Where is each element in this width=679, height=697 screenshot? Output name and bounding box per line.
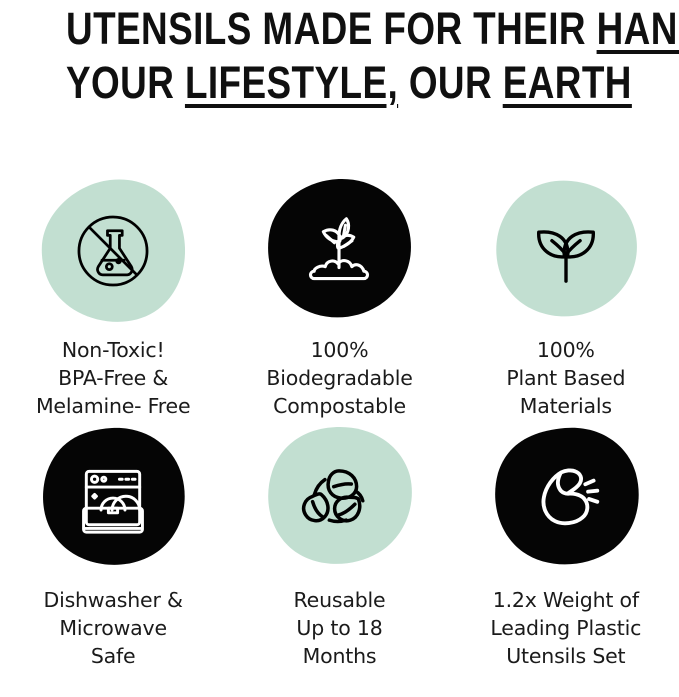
caption-line: Melamine- Free (36, 392, 190, 420)
headline-emphasis-hands: HANDS, (597, 3, 679, 54)
feature-item-reusable: Reusable Up to 18 Months (226, 426, 452, 670)
caption-line: Utensils Set (490, 642, 641, 670)
feature-caption-dishwasher: Dishwasher & Microwave Safe (44, 586, 183, 670)
feature-caption-biodegradable: 100% Biodegradable Compostable (266, 336, 412, 420)
headline-line-1: UTENSILS MADE FOR THEIR HANDS, (66, 2, 613, 56)
caption-line: Dishwasher & (44, 586, 183, 614)
caption-line: Biodegradable (266, 364, 412, 392)
caption-line: Materials (506, 392, 625, 420)
caption-line: 1.2x Weight of (490, 586, 641, 614)
headline-line-2-mid: OUR (398, 57, 503, 108)
feature-item-plant-based: 100% Plant Based Materials (453, 178, 679, 420)
dishwasher-icon (67, 453, 159, 545)
caption-line: Leading Plastic (490, 614, 641, 642)
feature-caption-plant-based: 100% Plant Based Materials (506, 336, 625, 420)
feature-caption-non-toxic: Non-Toxic! BPA-Free & Melamine- Free (36, 336, 190, 420)
feature-row-1: Non-Toxic! BPA-Free & Melamine- Free (0, 178, 679, 420)
headline-line-2: YOUR LIFESTYLE, OUR EARTH (66, 56, 613, 110)
leaf-recycle-icon (295, 455, 383, 543)
feature-caption-reusable: Reusable Up to 18 Months (294, 586, 386, 670)
feature-badge-weight (491, 426, 641, 572)
headline-emphasis-lifestyle: LIFESTYLE, (185, 57, 398, 108)
caption-line: Up to 18 (294, 614, 386, 642)
two-leaves-plant-icon (519, 204, 613, 298)
sprout-soil-icon (293, 205, 385, 297)
caption-line: Months (294, 642, 386, 670)
feature-badge-reusable (264, 426, 414, 572)
feature-badge-biodegradable (264, 178, 414, 324)
feature-caption-weight: 1.2x Weight of Leading Plastic Utensils … (490, 586, 641, 670)
caption-line: Reusable (294, 586, 386, 614)
caption-line: 100% (266, 336, 412, 364)
headline-emphasis-earth: EARTH (503, 57, 632, 108)
caption-line: Microwave (44, 614, 183, 642)
feature-item-biodegradable: 100% Biodegradable Compostable (226, 178, 452, 420)
feature-item-non-toxic: Non-Toxic! BPA-Free & Melamine- Free (0, 178, 226, 420)
feature-badge-dishwasher (38, 426, 188, 572)
flexed-bicep-icon (520, 453, 612, 545)
caption-line: Plant Based (506, 364, 625, 392)
headline-line-1-text: UTENSILS MADE FOR THEIR (66, 3, 597, 54)
page-headline: UTENSILS MADE FOR THEIR HANDS, YOUR LIFE… (0, 0, 679, 110)
caption-line: BPA-Free & (36, 364, 190, 392)
no-toxic-flask-icon (67, 205, 159, 297)
feature-item-weight: 1.2x Weight of Leading Plastic Utensils … (453, 426, 679, 670)
caption-line: Compostable (266, 392, 412, 420)
feature-grid: Non-Toxic! BPA-Free & Melamine- Free (0, 178, 679, 670)
caption-line: 100% (506, 336, 625, 364)
feature-item-dishwasher: Dishwasher & Microwave Safe (0, 426, 226, 670)
feature-badge-plant-based (491, 178, 641, 324)
feature-badge-non-toxic (38, 178, 188, 324)
caption-line: Safe (44, 642, 183, 670)
feature-row-2: Dishwasher & Microwave Safe (0, 426, 679, 670)
headline-line-2-text: YOUR (66, 57, 185, 108)
caption-line: Non-Toxic! (36, 336, 190, 364)
